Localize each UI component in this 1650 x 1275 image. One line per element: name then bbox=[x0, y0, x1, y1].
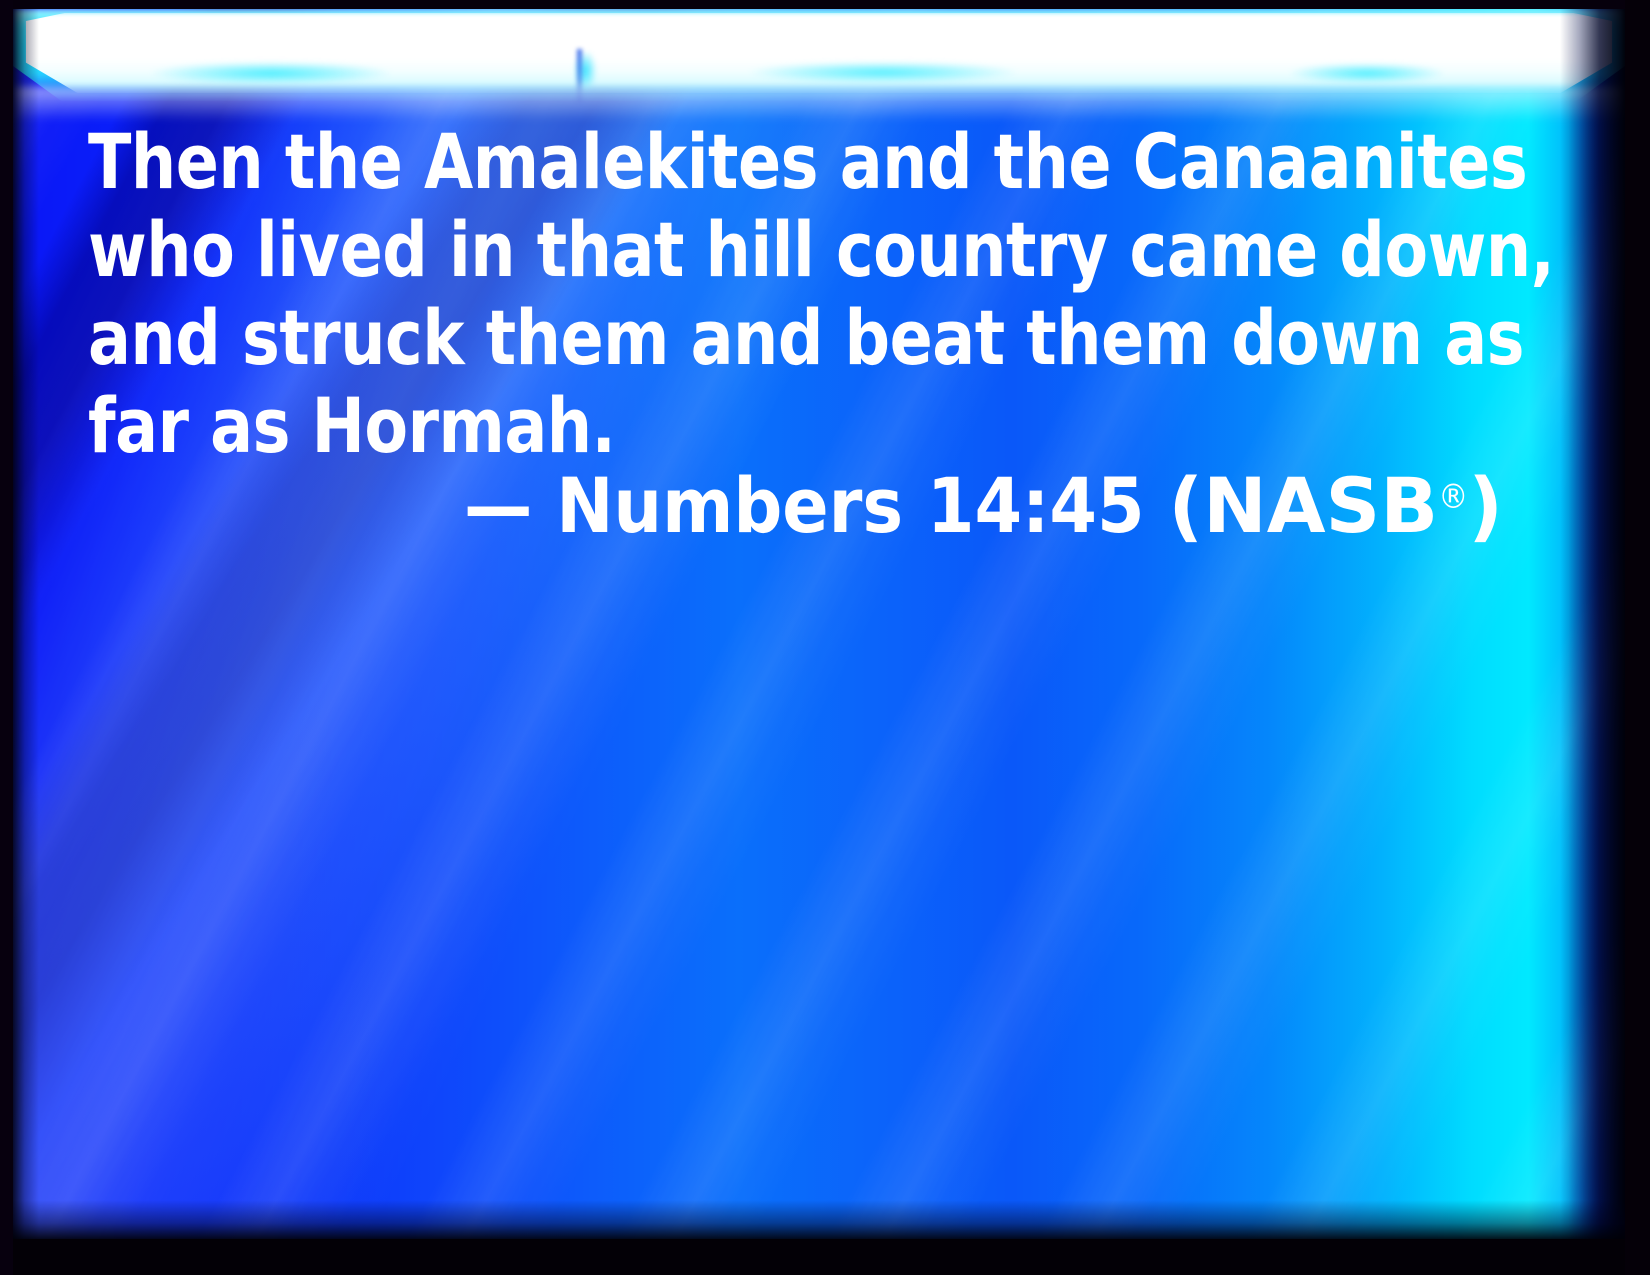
glow-bottom-fade bbox=[13, 87, 1625, 121]
verse-attribution: — Numbers 14:45 (NASB®) bbox=[88, 460, 1503, 552]
frame-border-bottom bbox=[0, 1239, 1650, 1275]
left-edge-falloff bbox=[13, 9, 39, 1241]
verse-line-2: who lived in that hill country came down… bbox=[88, 206, 1409, 294]
verse-text-block: Then the Amalekites and the Canaanites w… bbox=[88, 118, 1508, 470]
attribution-open-paren: ( bbox=[1168, 461, 1203, 550]
right-edge-falloff bbox=[1560, 9, 1628, 1241]
attribution-em-dash: — bbox=[464, 461, 556, 550]
bottom-edge-falloff bbox=[13, 1200, 1625, 1242]
registered-trademark-icon: ® bbox=[1438, 477, 1468, 516]
verse-slide: Then the Amalekites and the Canaanites w… bbox=[0, 0, 1650, 1275]
verse-line-4: far as Hormah. bbox=[88, 382, 1409, 470]
frame-border-left bbox=[0, 0, 13, 1275]
frame-border-right bbox=[1625, 0, 1650, 1275]
attribution-close-paren: ) bbox=[1468, 461, 1503, 550]
frame-border-top bbox=[0, 0, 1650, 9]
top-glow-bar bbox=[13, 9, 1625, 119]
attribution-reference: Numbers 14:45 bbox=[556, 461, 1144, 550]
attribution-translation: NASB bbox=[1203, 461, 1438, 550]
verse-line-1: Then the Amalekites and the Canaanites bbox=[88, 118, 1409, 206]
attribution-space bbox=[1145, 461, 1169, 550]
verse-line-3: and struck them and beat them down as bbox=[88, 294, 1409, 382]
